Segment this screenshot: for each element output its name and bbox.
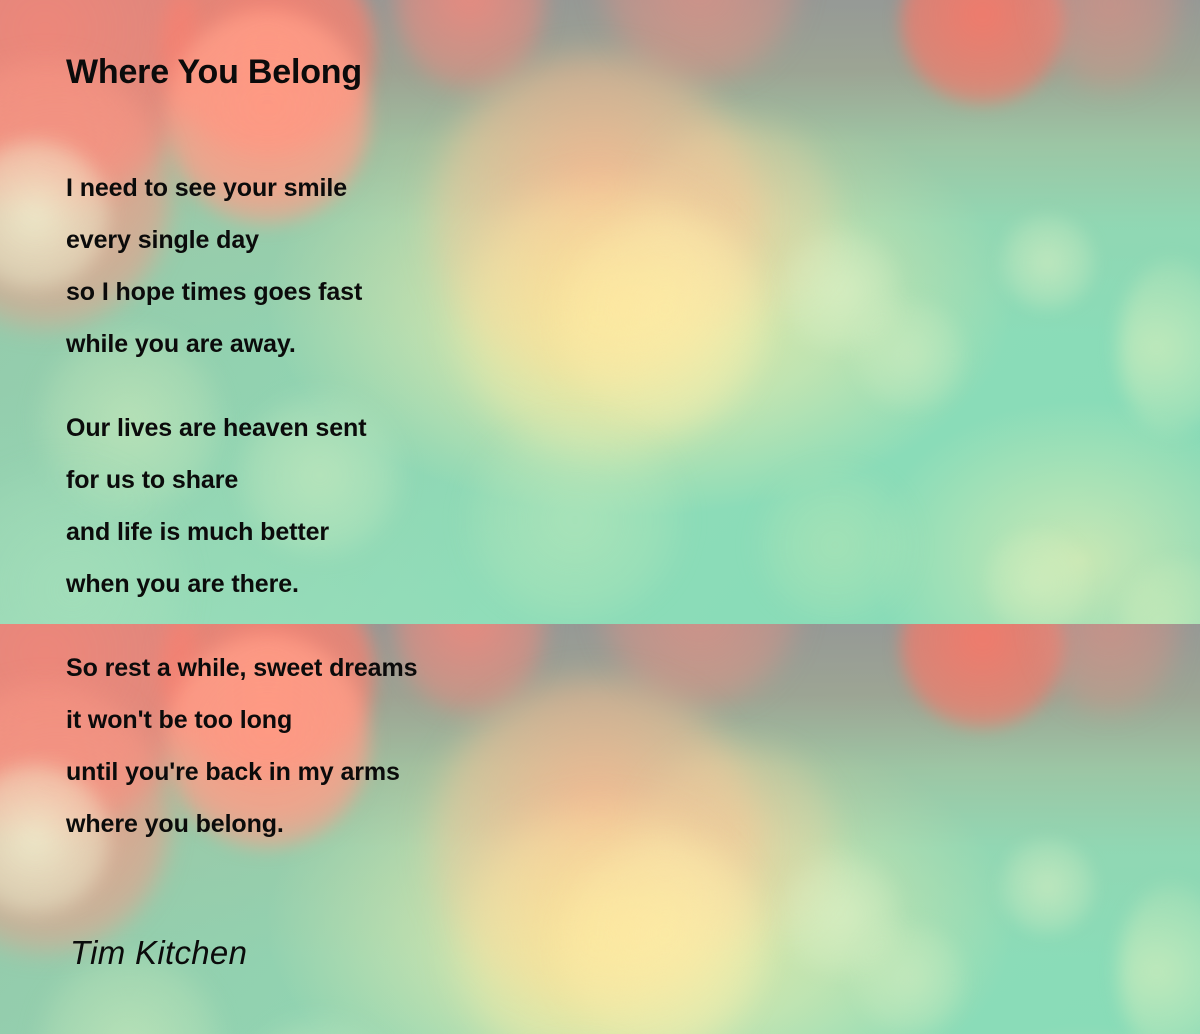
- poem-line: until you're back in my arms: [66, 746, 766, 798]
- poem-stanza: So rest a while, sweet dreams it won't b…: [66, 642, 766, 850]
- poem-stanza-list: I need to see your smile every single da…: [66, 162, 766, 882]
- poem-line: and life is much better: [66, 506, 766, 558]
- poem-line: where you belong.: [66, 798, 766, 850]
- poem-stanza: I need to see your smile every single da…: [66, 162, 766, 370]
- poem-line: Our lives are heaven sent: [66, 402, 766, 454]
- poem-text-layer: Where You Belong I need to see your smil…: [0, 0, 1200, 1034]
- poem-line: when you are there.: [66, 558, 766, 610]
- poem-line: while you are away.: [66, 318, 766, 370]
- poem-line: I need to see your smile: [66, 162, 766, 214]
- poem-line: it won't be too long: [66, 694, 766, 746]
- poem-line: for us to share: [66, 454, 766, 506]
- poem-stanza: Our lives are heaven sent for us to shar…: [66, 402, 766, 610]
- poem-line: So rest a while, sweet dreams: [66, 642, 766, 694]
- poem-title: Where You Belong: [66, 53, 362, 92]
- poem-card: Where You Belong I need to see your smil…: [0, 0, 1200, 1034]
- poem-line: every single day: [66, 214, 766, 266]
- poem-author: Tim Kitchen: [70, 934, 247, 972]
- poem-line: so I hope times goes fast: [66, 266, 766, 318]
